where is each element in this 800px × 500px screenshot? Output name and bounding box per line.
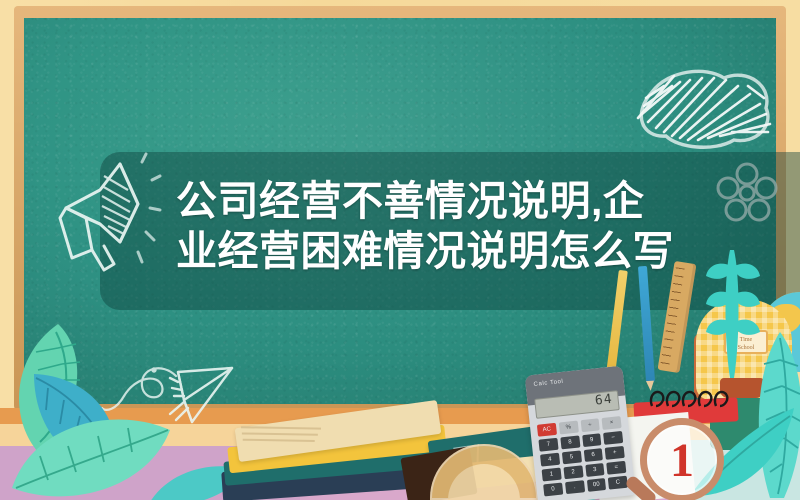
calculator-key[interactable]: C: [608, 476, 628, 490]
calculator-key[interactable]: 4: [540, 453, 560, 467]
magnifier-icon: 1: [640, 418, 724, 500]
calculator-icon: Calc Tool 64 AC % ÷ × 7 8 9 − 4 5 6 + 1 …: [525, 366, 636, 500]
calculator-key[interactable]: 00: [586, 478, 606, 492]
calculator-key[interactable]: 1: [542, 468, 562, 482]
poster-canvas: 公司经营不善情况说明,企 业经营困难情况说明怎么写: [0, 0, 800, 500]
calculator-key[interactable]: 7: [538, 438, 558, 452]
calculator-key[interactable]: =: [606, 461, 626, 475]
calculator-key[interactable]: 0: [543, 483, 563, 497]
spiral-binding-icon: [646, 386, 732, 408]
calculator-key[interactable]: ×: [602, 416, 622, 430]
calculator-key[interactable]: −: [603, 431, 623, 445]
calculator-key[interactable]: 3: [585, 463, 605, 477]
calculator-key[interactable]: .: [565, 480, 585, 494]
calculator-key[interactable]: 9: [582, 433, 602, 447]
calculator-key[interactable]: AC: [537, 423, 557, 437]
calculator-key[interactable]: 8: [560, 436, 580, 450]
calculator-key[interactable]: 5: [562, 450, 582, 464]
calculator-keypad[interactable]: AC % ÷ × 7 8 9 − 4 5 6 + 1 2 3 = 0 . 00 …: [537, 416, 628, 496]
page-title: 公司经营不善情况说明,企 业经营困难情况说明怎么写: [176, 176, 696, 276]
calculator-key[interactable]: +: [605, 446, 625, 460]
magnified-number: 1: [640, 418, 724, 500]
calculator-key[interactable]: 2: [563, 465, 583, 479]
calculator-key[interactable]: %: [558, 421, 578, 435]
calculator-key[interactable]: 6: [583, 448, 603, 462]
calculator-key[interactable]: ÷: [580, 418, 600, 432]
